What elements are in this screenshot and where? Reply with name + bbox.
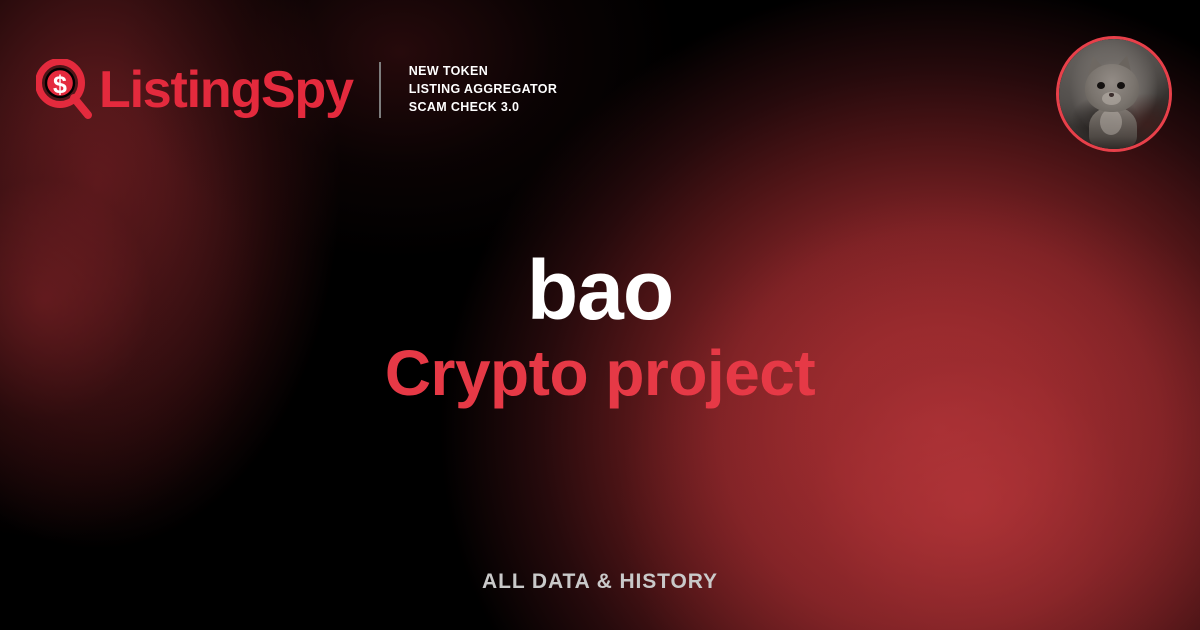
magnifier-dollar-icon: $ xyxy=(36,59,94,121)
tagline-line-2: LISTING AGGREGATOR xyxy=(409,81,557,99)
cat-eye-left xyxy=(1097,82,1105,89)
background-glow-top xyxy=(120,0,680,260)
token-name: bao xyxy=(0,248,1200,334)
token-headline: bao Crypto project xyxy=(0,248,1200,407)
avatar[interactable] xyxy=(1056,36,1172,152)
brand-header: $ ListingSpy NEW TOKEN LISTING AGGREGATO… xyxy=(36,52,557,128)
tagline-line-3: SCAM CHECK 3.0 xyxy=(409,99,557,117)
tagline-line-1: NEW TOKEN xyxy=(409,63,557,81)
brand-tagline: NEW TOKEN LISTING AGGREGATOR SCAM CHECK … xyxy=(409,63,557,116)
svg-text:$: $ xyxy=(53,71,67,99)
brand-wordmark: ListingSpy xyxy=(99,64,353,116)
cat-eye-right xyxy=(1117,82,1125,89)
footer-caption: ALL DATA & HISTORY xyxy=(0,570,1200,594)
cat-avatar-icon xyxy=(1059,39,1169,149)
cat-chest xyxy=(1100,109,1122,135)
brand-divider xyxy=(379,62,381,118)
social-share-card: $ ListingSpy NEW TOKEN LISTING AGGREGATO… xyxy=(0,0,1200,630)
token-type: Crypto project xyxy=(0,340,1200,407)
cat-nose xyxy=(1109,93,1114,97)
brand-logo[interactable]: $ ListingSpy xyxy=(36,59,353,121)
